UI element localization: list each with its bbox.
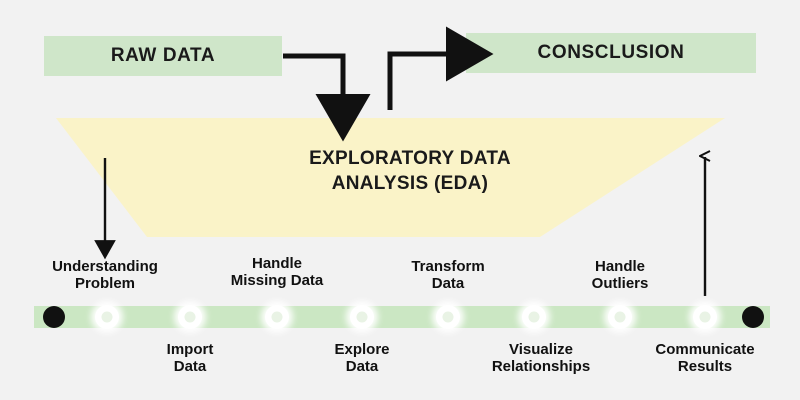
timeline-label-line1: Explore: [334, 341, 389, 358]
timeline-label-line2: Missing Data: [231, 272, 324, 289]
eda-title-line1: EXPLORATORY DATA: [240, 146, 580, 171]
timeline-label-line1: Handle: [231, 255, 324, 272]
timeline-node-end[interactable]: [742, 306, 764, 328]
timeline-label-line1: Handle: [592, 258, 649, 275]
timeline-node-transform-data[interactable]: [436, 305, 460, 329]
timeline-node-visualize-relationships[interactable]: [522, 305, 546, 329]
timeline-node-start[interactable]: [43, 306, 65, 328]
timeline-bar: [34, 306, 770, 328]
timeline-label-line1: Communicate: [655, 341, 754, 358]
timeline-label-line1: Import: [167, 341, 214, 358]
timeline-node-import-data[interactable]: [178, 305, 202, 329]
raw-data-down-arrow: [283, 56, 343, 100]
timeline-label-import-data: Import Data: [167, 341, 214, 375]
timeline-label-line1: Visualize: [492, 341, 590, 358]
conclusion-box[interactable]: CONSCLUSION: [466, 33, 756, 73]
eda-title: EXPLORATORY DATA ANALYSIS (EDA): [240, 146, 580, 196]
timeline-label-line1: Understanding: [52, 258, 158, 275]
timeline-label-line2: Relationships: [492, 358, 590, 375]
timeline-label-line2: Results: [655, 358, 754, 375]
timeline-label-line2: Problem: [52, 275, 158, 292]
timeline-node-understanding-problem[interactable]: [95, 305, 119, 329]
eda-up-right-arrow: [390, 54, 452, 110]
timeline-label-communicate-results: Communicate Results: [655, 341, 754, 375]
raw-data-label: RAW DATA: [111, 45, 215, 67]
timeline-node-handle-outliers[interactable]: [608, 305, 632, 329]
timeline-label-handle-missing-data: Handle Missing Data: [231, 255, 324, 289]
diagram-canvas: RAW DATA CONSCLUSION: [0, 0, 800, 400]
timeline-label-explore-data: Explore Data: [334, 341, 389, 375]
timeline-label-line2: Data: [334, 358, 389, 375]
timeline-label-line2: Data: [167, 358, 214, 375]
timeline-label-handle-outliers: Handle Outliers: [592, 258, 649, 292]
timeline-node-handle-missing-data[interactable]: [265, 305, 289, 329]
timeline-node-explore-data[interactable]: [350, 305, 374, 329]
timeline-label-line1: Transform: [411, 258, 484, 275]
timeline-label-visualize-relationships: Visualize Relationships: [492, 341, 590, 375]
timeline-label-line2: Outliers: [592, 275, 649, 292]
timeline-label-transform-data: Transform Data: [411, 258, 484, 292]
raw-data-box[interactable]: RAW DATA: [44, 36, 282, 76]
timeline-label-understanding-problem: Understanding Problem: [52, 258, 158, 292]
eda-title-line2: ANALYSIS (EDA): [240, 171, 580, 196]
conclusion-label: CONSCLUSION: [538, 42, 685, 64]
timeline-node-communicate-results[interactable]: [693, 305, 717, 329]
timeline-label-line2: Data: [411, 275, 484, 292]
